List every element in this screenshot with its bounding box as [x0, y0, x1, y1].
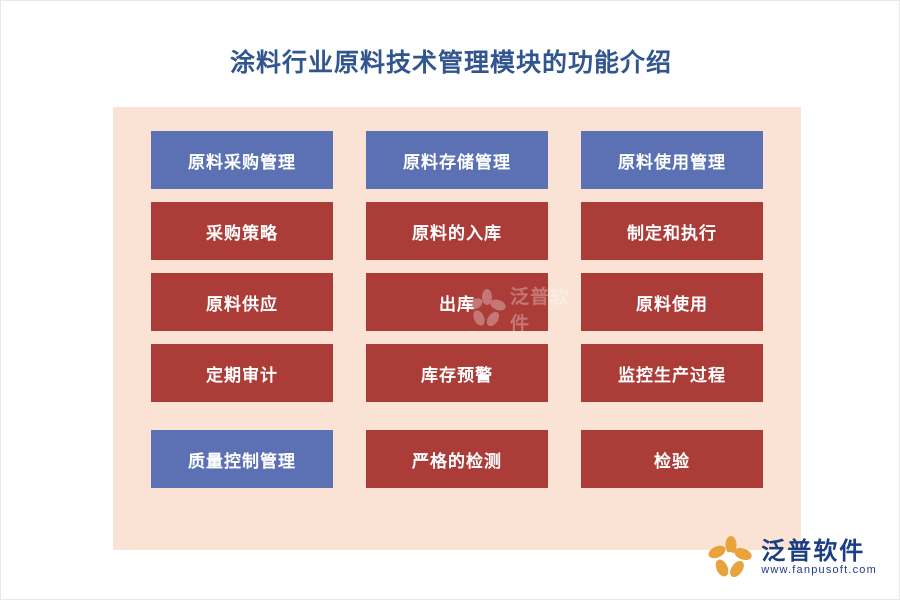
diagram-panel: 原料采购管理 原料存储管理 原料使用管理 采购策略 原料的入库 制定和执行 原料…	[113, 107, 801, 550]
diagram-cell-r1-2[interactable]: 原料的入库	[366, 202, 548, 260]
diagram-row-4: 质量控制管理 严格的检测 检验	[151, 430, 763, 488]
diagram-row-3: 定期审计 库存预警 监控生产过程	[151, 344, 763, 402]
diagram-cell-r3-1[interactable]: 定期审计	[151, 344, 333, 402]
diagram-cell-r3-3[interactable]: 监控生产过程	[581, 344, 763, 402]
diagram-cell-r4-1[interactable]: 质量控制管理	[151, 430, 333, 488]
diagram-cell-r3-2[interactable]: 库存预警	[366, 344, 548, 402]
diagram-cell-r1-3[interactable]: 制定和执行	[581, 202, 763, 260]
diagram-row-1: 采购策略 原料的入库 制定和执行	[151, 202, 763, 260]
diagram-grid: 原料采购管理 原料存储管理 原料使用管理 采购策略 原料的入库 制定和执行 原料…	[151, 131, 763, 528]
brand-logo-text: 泛普软件 www.fanpusoft.com	[761, 540, 877, 577]
diagram-cell-r2-1[interactable]: 原料供应	[151, 273, 333, 331]
diagram-cell-header-3[interactable]: 原料使用管理	[581, 131, 763, 189]
page-title: 涂料行业原料技术管理模块的功能介绍	[1, 43, 900, 79]
diagram-cell-header-1[interactable]: 原料采购管理	[151, 131, 333, 189]
flower-logo-icon	[708, 535, 754, 581]
diagram-cell-r4-2[interactable]: 严格的检测	[366, 430, 548, 488]
diagram-cell-r2-3[interactable]: 原料使用	[581, 273, 763, 331]
diagram-row-2: 原料供应 出库 原料使用	[151, 273, 763, 331]
brand-logo: 泛普软件 www.fanpusoft.com	[708, 535, 877, 581]
brand-name-cn: 泛普软件	[761, 540, 877, 565]
diagram-row-header: 原料采购管理 原料存储管理 原料使用管理	[151, 131, 763, 189]
diagram-cell-r4-3[interactable]: 检验	[581, 430, 763, 488]
diagram-cell-header-2[interactable]: 原料存储管理	[366, 131, 548, 189]
diagram-cell-r1-1[interactable]: 采购策略	[151, 202, 333, 260]
slide-page: 涂料行业原料技术管理模块的功能介绍 原料采购管理 原料存储管理 原料使用管理 采…	[0, 0, 900, 600]
brand-name-en: www.fanpusoft.com	[761, 565, 877, 577]
diagram-cell-r2-2[interactable]: 出库	[366, 273, 548, 331]
